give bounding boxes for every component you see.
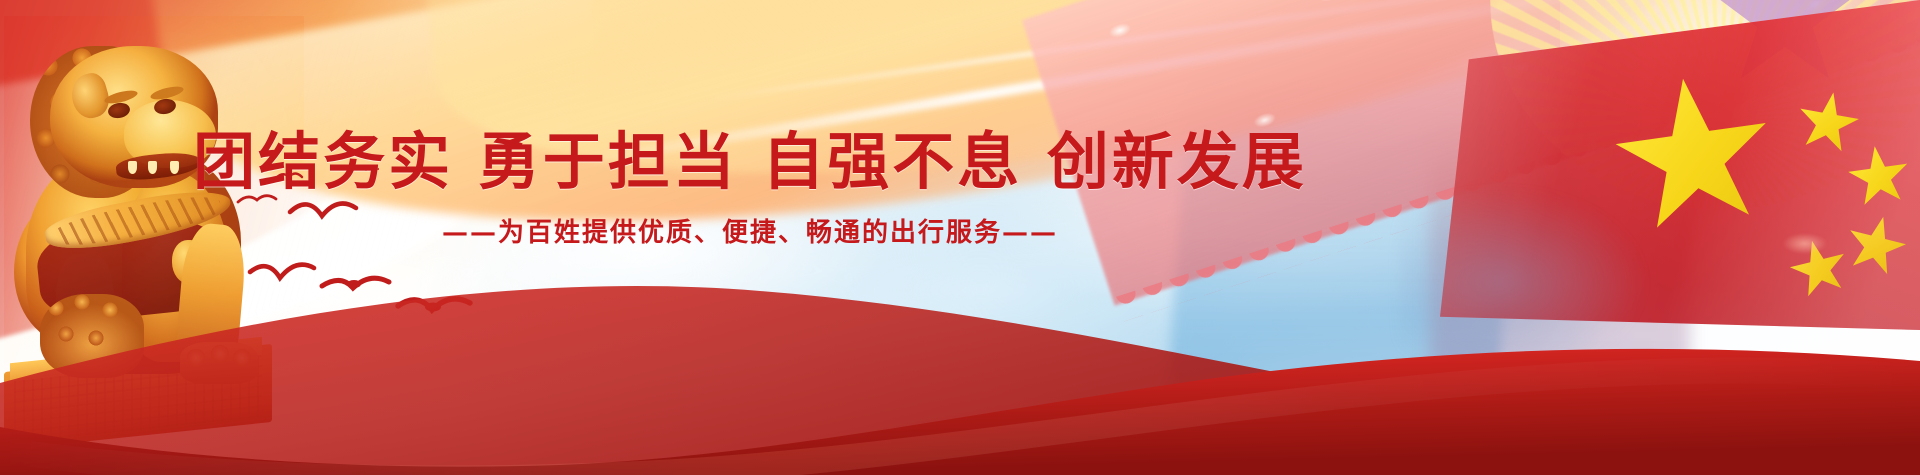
- lion-cub: [40, 294, 144, 378]
- lion-front-paw: [180, 342, 258, 384]
- banner-root: 团结务实 勇于担当 自强不息 创新发展 ——为百姓提供优质、便捷、畅通的出行服务…: [0, 0, 1920, 475]
- page-subtitle: ——为百姓提供优质、便捷、畅通的出行服务——: [0, 212, 1500, 249]
- small-star-1-icon: [1792, 87, 1864, 159]
- lion-brow: [149, 84, 184, 102]
- lion-eye: [107, 101, 131, 120]
- ribbon-highlight-line-2: [705, 0, 1795, 103]
- lion-hind-leg: [56, 254, 114, 374]
- lion-brow: [103, 88, 138, 106]
- lion-pedestal-texture: [14, 355, 262, 443]
- small-star-4-icon: [1784, 234, 1854, 304]
- lion-eye: [153, 97, 177, 116]
- lion-pedestal: [4, 344, 272, 450]
- large-star-icon: [1605, 68, 1783, 246]
- small-star-2-icon: [1844, 142, 1914, 212]
- page-title: 团结务实 勇于担当 自强不息 创新发展: [0, 128, 1500, 196]
- lion-ear: [67, 70, 114, 122]
- red-silk-wave: [0, 265, 1920, 475]
- small-star-3-icon: [1840, 210, 1913, 283]
- banner-text-block: 团结务实 勇于担当 自强不息 创新发展 ——为百姓提供优质、便捷、畅通的出行服务…: [0, 128, 1500, 249]
- lion-pedestal-top: [10, 337, 262, 383]
- violet-star-icon: [1710, 0, 1860, 92]
